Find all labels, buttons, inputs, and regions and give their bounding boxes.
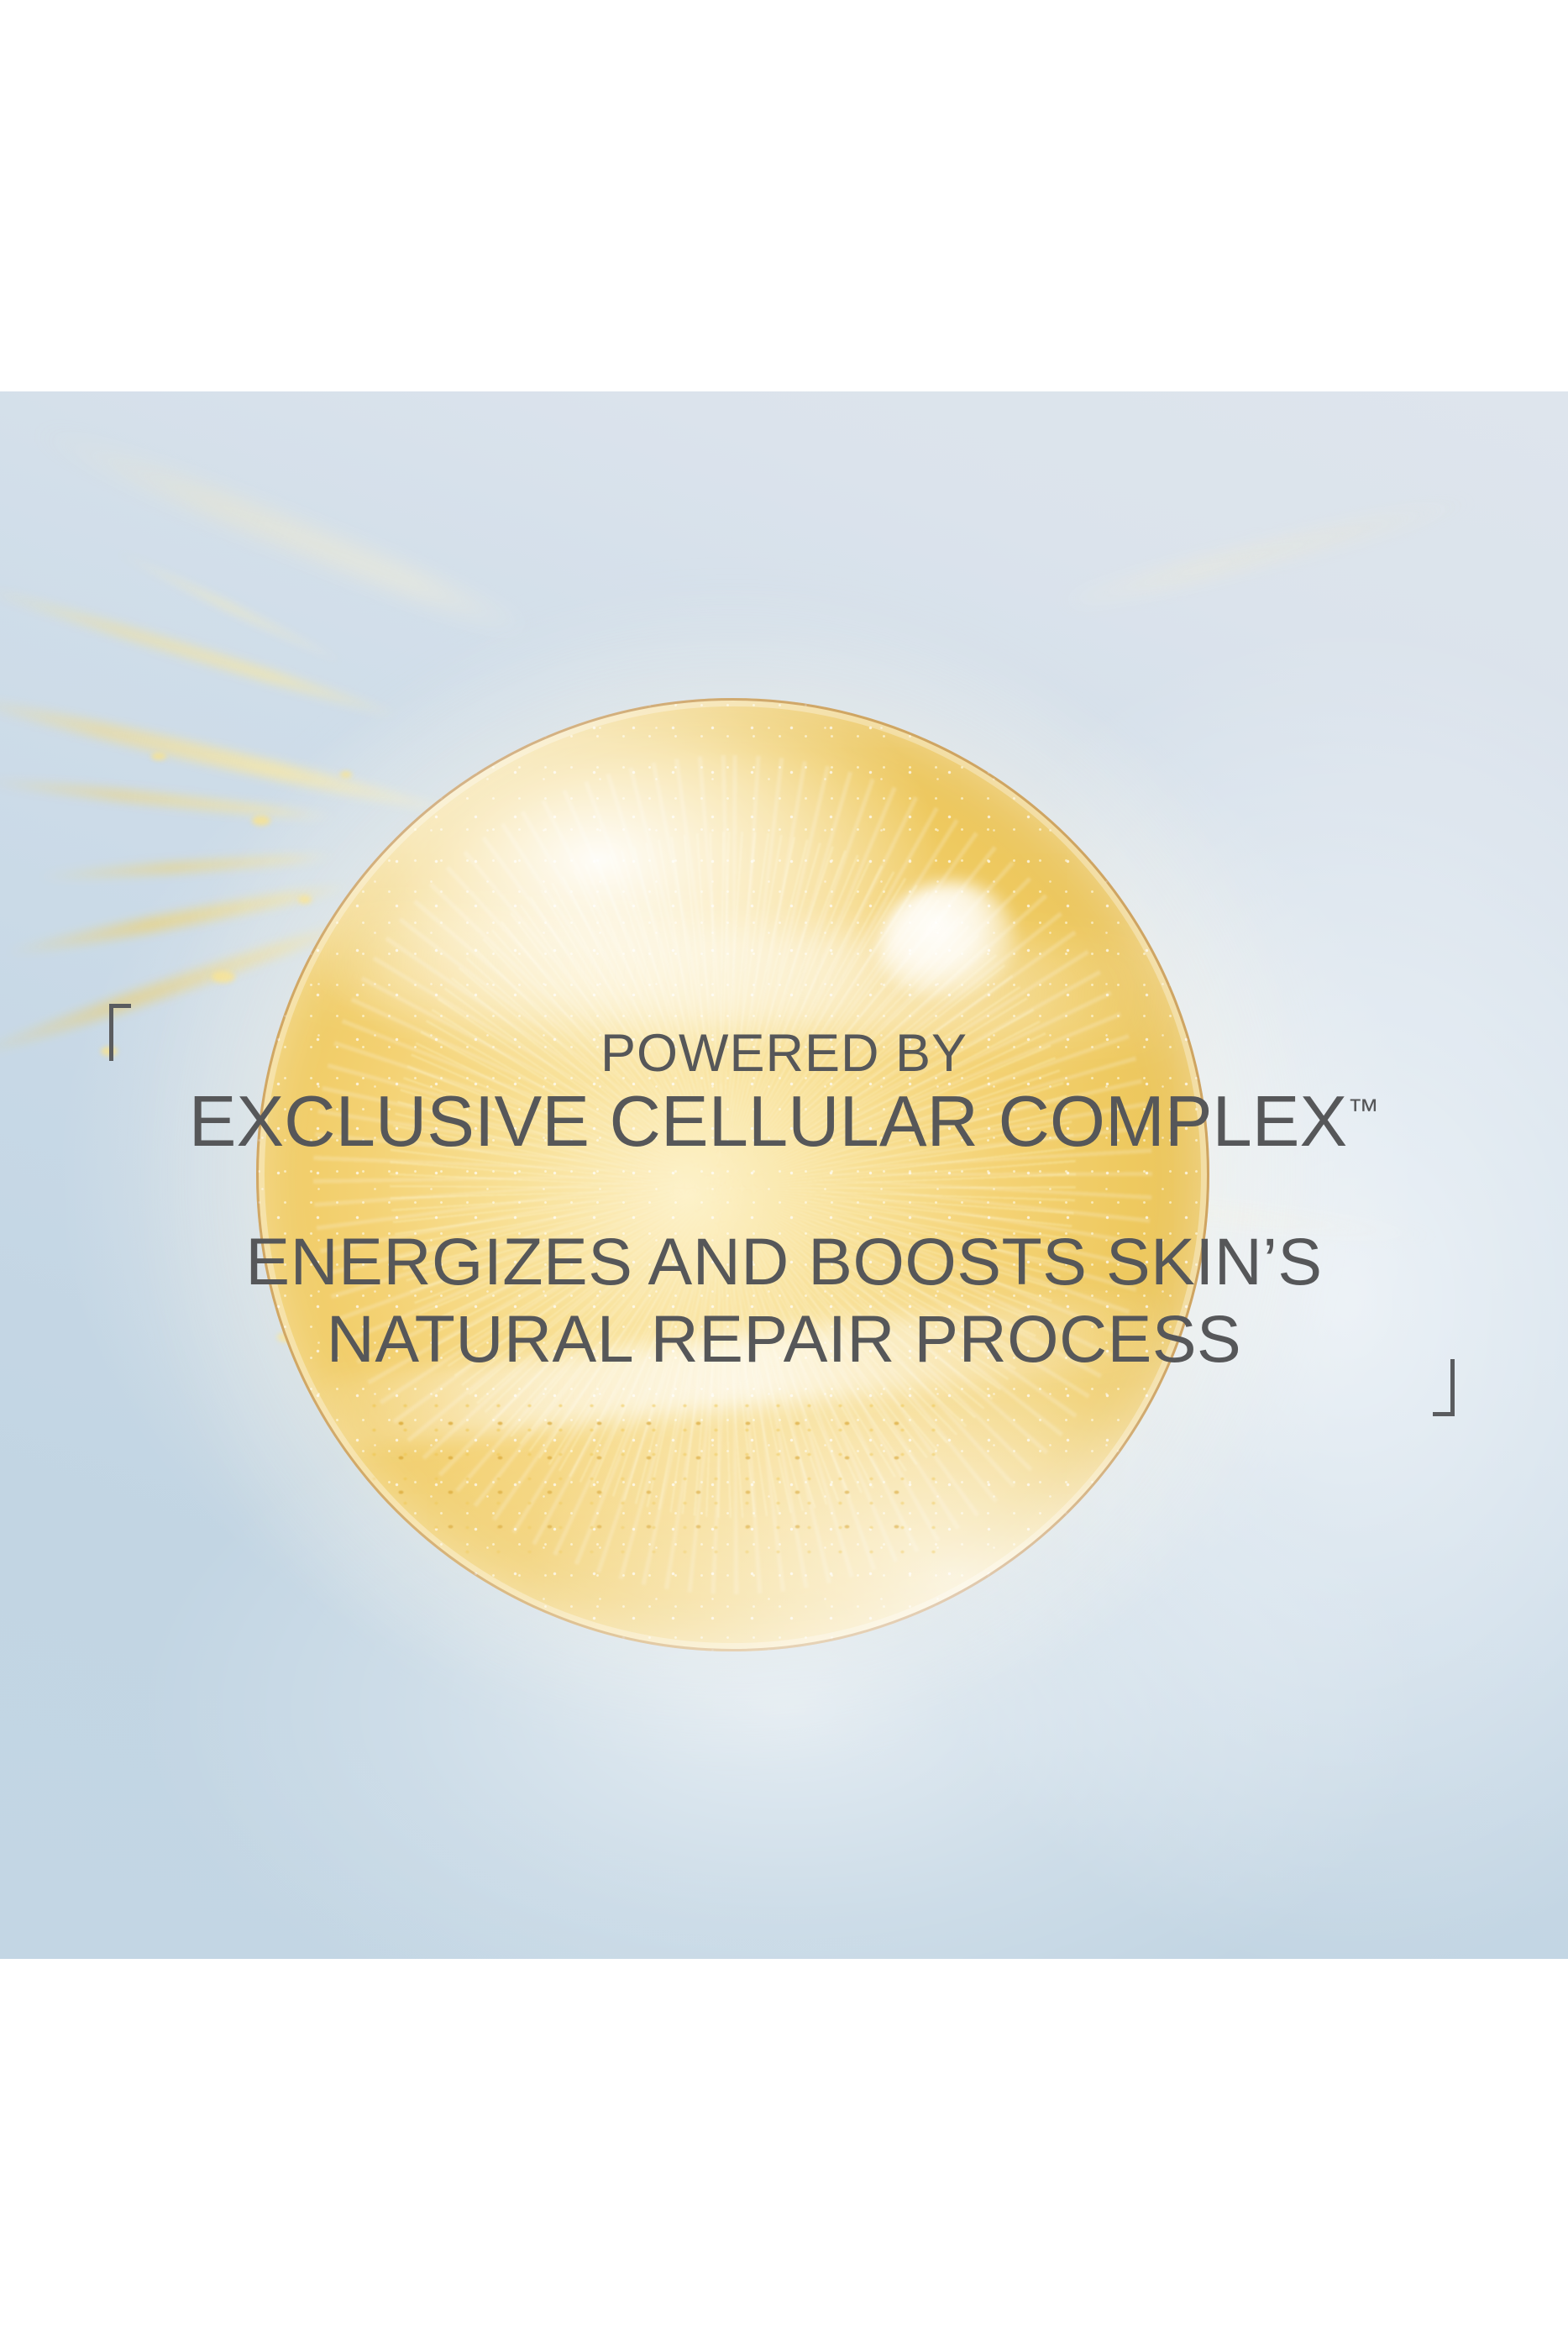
splash-streak <box>24 417 530 639</box>
subheadline-line-2: NATURAL REPAIR PROCESS <box>0 1300 1568 1378</box>
product-marketing-slide: POWERED BY EXCLUSIVE CELLULAR COMPLEX™ E… <box>0 0 1568 2352</box>
headline-line-1: POWERED BY <box>0 1023 1568 1084</box>
bracket-horizontal-stroke <box>109 1004 131 1008</box>
headline-line-2-text: EXCLUSIVE CELLULAR COMPLEX <box>189 1082 1347 1162</box>
marketing-copy-block: POWERED BY EXCLUSIVE CELLULAR COMPLEX™ E… <box>0 1023 1568 1378</box>
splash-streak <box>112 547 342 664</box>
trademark-symbol: ™ <box>1347 1094 1379 1129</box>
subheadline-block: ENERGIZES AND BOOSTS SKIN’S NATURAL REPA… <box>0 1223 1568 1378</box>
subheadline-line-1: ENERGIZES AND BOOSTS SKIN’S <box>0 1223 1568 1300</box>
splash-droplet <box>151 753 166 760</box>
bracket-horizontal-stroke <box>1433 1412 1455 1416</box>
headline-line-2: EXCLUSIVE CELLULAR COMPLEX™ <box>0 1084 1568 1161</box>
splash-streak <box>1063 490 1491 610</box>
